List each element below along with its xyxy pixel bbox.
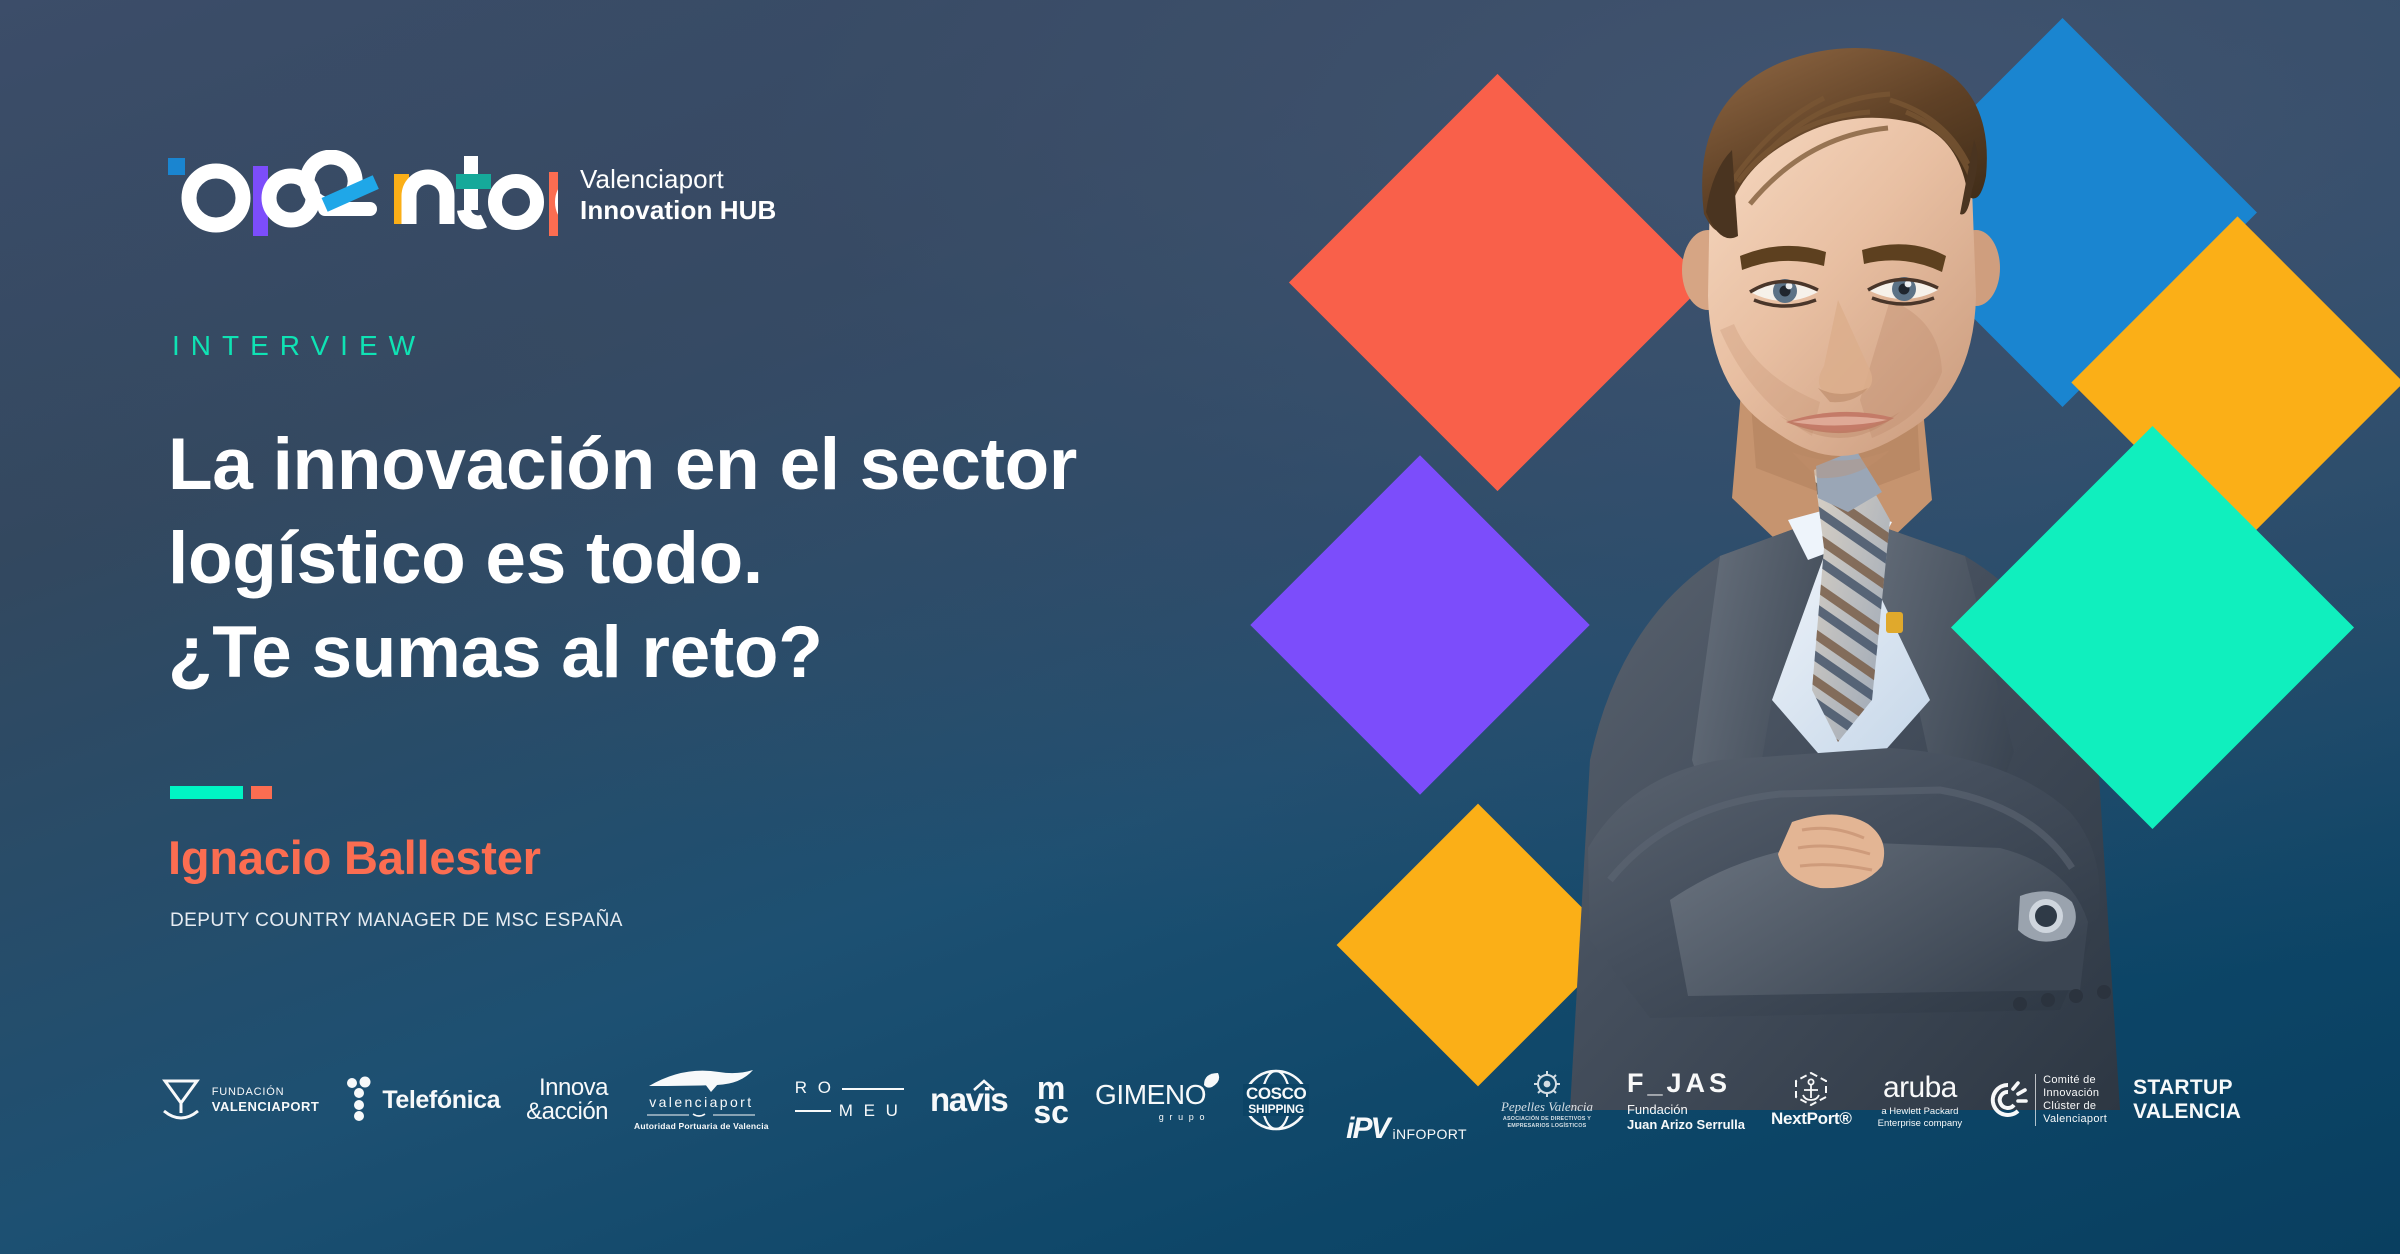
headline-line-1: La innovación en el sector — [168, 418, 1208, 512]
navis-caret-icon — [973, 1080, 995, 1091]
partner-sublabel: ASOCIACIÓN DE DIRECTIVOS Y EMPRESARIOS L… — [1493, 1116, 1601, 1130]
chalice-icon — [159, 1077, 203, 1123]
partner-fundacion-valenciaport[interactable]: FUNDACIÓN VALENCIAPORT — [146, 1054, 333, 1146]
partner-line2: Innovación — [2043, 1087, 2107, 1100]
partner-gimeno-grupo[interactable]: GIMENO g r u p o — [1082, 1054, 1219, 1146]
partner-label: aruba — [1883, 1071, 1957, 1105]
partner-line2: sc — [1033, 1100, 1069, 1124]
speaker-name: Ignacio Ballester — [168, 830, 541, 885]
ships-wheel-icon — [1533, 1070, 1561, 1098]
page-title: La innovación en el sector logístico es … — [168, 418, 1208, 700]
brand-tagline: Valenciaport Innovation HUB — [580, 160, 776, 225]
partner-nextport[interactable]: NextPort® — [1758, 1054, 1865, 1146]
partner-aruba-hpe[interactable]: aruba a Hewlett Packard Enterprise compa… — [1865, 1054, 1975, 1146]
partner-line2: M E U — [839, 1100, 901, 1123]
partner-label: F_JAS — [1627, 1068, 1731, 1099]
divider-teal-bar — [170, 786, 243, 799]
partner-cosco-shipping[interactable]: COSCO SHIPPING — [1219, 1054, 1333, 1146]
headline-line-2: logístico es todo. — [168, 512, 1208, 606]
partner-line1: FUNDACIÓN — [212, 1086, 320, 1099]
partner-label: valenciaport — [649, 1094, 753, 1110]
partner-startup-valencia[interactable]: STARTUP VALENCIA — [2120, 1054, 2254, 1146]
partner-line3: Clúster de — [2043, 1100, 2107, 1113]
partner-romeu[interactable]: R O M E U — [782, 1054, 917, 1146]
partner-line2: VALENCIAPORT — [212, 1099, 320, 1114]
partner-line2: VALENCIA — [2133, 1100, 2241, 1124]
partner-line2: Enterprise company — [1878, 1118, 1962, 1129]
accent-divider — [170, 786, 272, 799]
partner-line1: Fundación — [1627, 1102, 1745, 1117]
partner-ipv-infoport[interactable]: iPV iNFOPORT — [1333, 1054, 1480, 1146]
partner-label: iPV — [1346, 1112, 1388, 1146]
partner-comite-innovacion[interactable]: Comité de Innovación Clúster de Valencia… — [1975, 1054, 2120, 1146]
eyebrow-label: INTERVIEW — [172, 330, 426, 362]
telefonica-dots-icon — [345, 1077, 375, 1123]
partner-telefonica[interactable]: Telefónica — [332, 1054, 513, 1146]
cluster-burst-icon — [1988, 1080, 2028, 1120]
partner-sublabel: g r u p o — [1095, 1112, 1206, 1122]
partner-label: Pepelles Valencia — [1501, 1099, 1593, 1115]
opentop-logo[interactable]: Valenciaport Innovation HUB — [168, 150, 776, 236]
partner-innova-accion[interactable]: Innova &acción — [513, 1054, 621, 1146]
partner-label: GIMENO — [1095, 1079, 1206, 1111]
partner-line1: Comité de — [2043, 1074, 2107, 1087]
brand-tagline-line2: Innovation HUB — [580, 195, 776, 226]
partner-label: Telefónica — [382, 1086, 500, 1115]
speaker-role: DEPUTY COUNTRY MANAGER DE MSC ESPAÑA — [170, 910, 623, 932]
partner-line1: a Hewlett Packard — [1878, 1106, 1962, 1117]
divider-coral-square — [251, 786, 272, 799]
partner-valenciaport[interactable]: valenciaport Autoridad Portuaria de Vale… — [621, 1054, 782, 1146]
partner-line1: Innova — [526, 1076, 608, 1100]
partner-line2: SHIPPING — [1246, 1103, 1306, 1116]
partner-navis[interactable]: navis — [917, 1054, 1020, 1146]
partner-line2: Juan Arizo Serrulla — [1627, 1117, 1745, 1132]
opentop-wordmark-icon — [168, 150, 558, 236]
partner-label: NextPort® — [1771, 1109, 1852, 1129]
partner-sublabel: Autoridad Portuaria de Valencia — [634, 1121, 769, 1131]
partner-pepelles-valencia[interactable]: Pepelles Valencia ASOCIACIÓN DE DIRECTIV… — [1480, 1054, 1614, 1146]
gull-icon — [645, 1068, 757, 1092]
partner-logo-strip: FUNDACIÓN VALENCIAPORT Telefónica Innova… — [0, 1052, 2400, 1148]
partner-line1: COSCO — [1246, 1085, 1306, 1103]
partner-line2: &acción — [526, 1100, 608, 1124]
partner-msc[interactable]: m sc — [1020, 1054, 1082, 1146]
partner-line1: R O — [795, 1077, 834, 1100]
valenciaport-underline-icon — [647, 1112, 755, 1119]
anchor-hex-icon — [1792, 1071, 1830, 1107]
partner-label: navis — [930, 1081, 1007, 1119]
brand-tagline-line1: Valenciaport — [580, 164, 776, 195]
partner-line1: STARTUP — [2133, 1076, 2241, 1100]
partner-line4: Valenciaport — [2043, 1113, 2107, 1126]
partner-fjas[interactable]: F_JAS Fundación Juan Arizo Serrulla — [1614, 1054, 1758, 1146]
headline-line-3: ¿Te sumas al reto? — [168, 606, 1208, 700]
partner-sublabel: iNFOPORT — [1392, 1126, 1467, 1146]
interview-promo-banner: Valenciaport Innovation HUB INTERVIEW La… — [0, 0, 2400, 1254]
